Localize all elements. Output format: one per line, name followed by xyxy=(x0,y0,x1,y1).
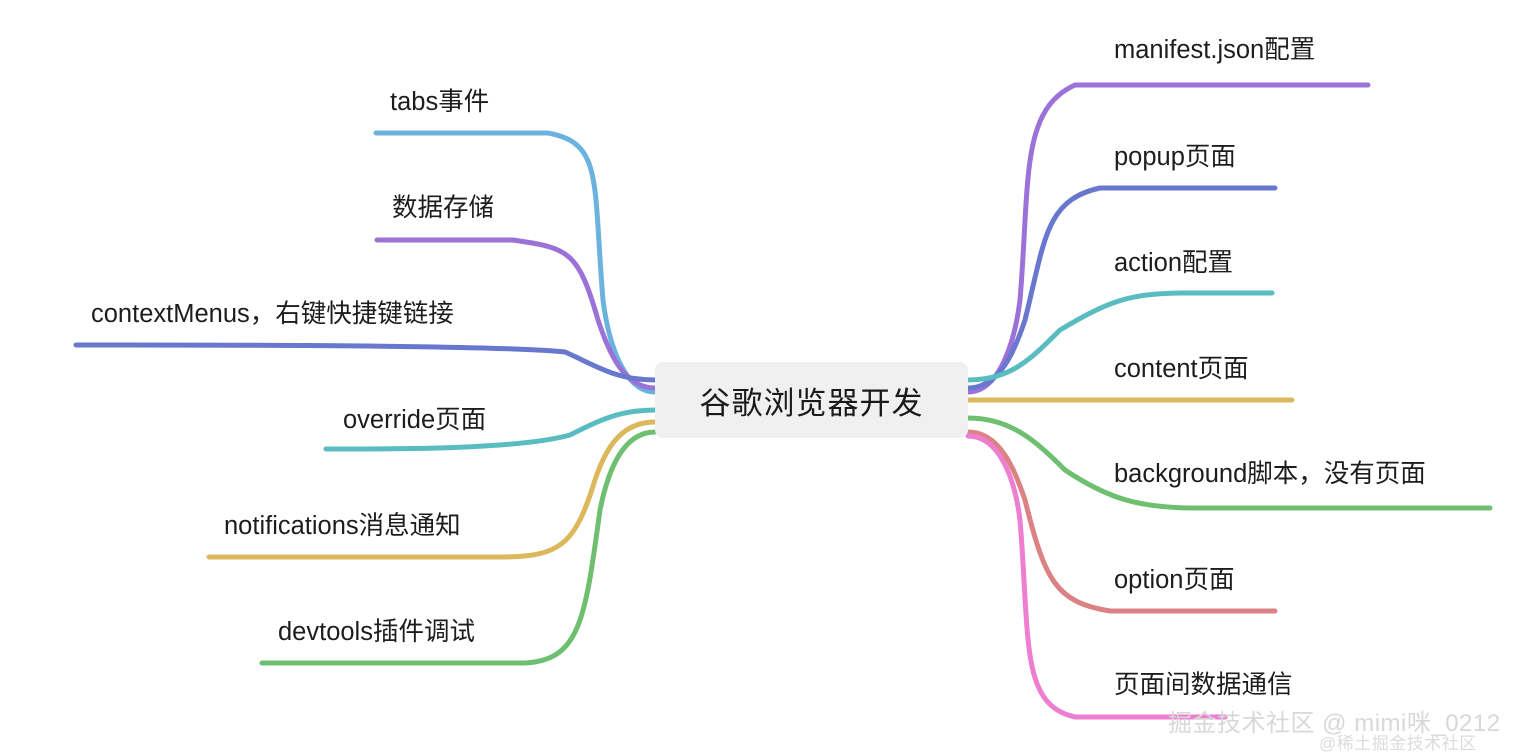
mindmap-canvas: 谷歌浏览器开发 manifest.json配置popup页面action配置co… xyxy=(0,0,1538,752)
watermark-secondary: @稀土掘金技术社区 xyxy=(1319,729,1477,752)
node-label-popup[interactable]: popup页面 xyxy=(1114,145,1236,171)
node-label-node[interactable]: 页面间数据通信 xyxy=(1114,673,1293,699)
node-label-devtools[interactable]: devtools插件调试 xyxy=(278,620,475,646)
node-label-node[interactable]: 数据存储 xyxy=(392,196,494,222)
root-node-label: 谷歌浏览器开发 xyxy=(700,378,924,423)
node-label-manifest-json[interactable]: manifest.json配置 xyxy=(1114,38,1315,64)
node-label-option[interactable]: option页面 xyxy=(1114,568,1234,594)
node-label-action[interactable]: action配置 xyxy=(1114,251,1233,277)
branch-line-left-2 xyxy=(76,345,655,380)
root-node[interactable]: 谷歌浏览器开发 xyxy=(655,362,968,438)
node-label-background[interactable]: background脚本，没有页面 xyxy=(1114,462,1426,488)
branch-line-right-0 xyxy=(968,85,1368,392)
node-label-override[interactable]: override页面 xyxy=(343,408,486,434)
node-label-contextmenus[interactable]: contextMenus，右键快捷键链接 xyxy=(91,302,454,328)
node-label-tabs[interactable]: tabs事件 xyxy=(390,90,489,116)
node-label-notifications[interactable]: notifications消息通知 xyxy=(224,514,461,540)
node-label-content[interactable]: content页面 xyxy=(1114,357,1249,383)
